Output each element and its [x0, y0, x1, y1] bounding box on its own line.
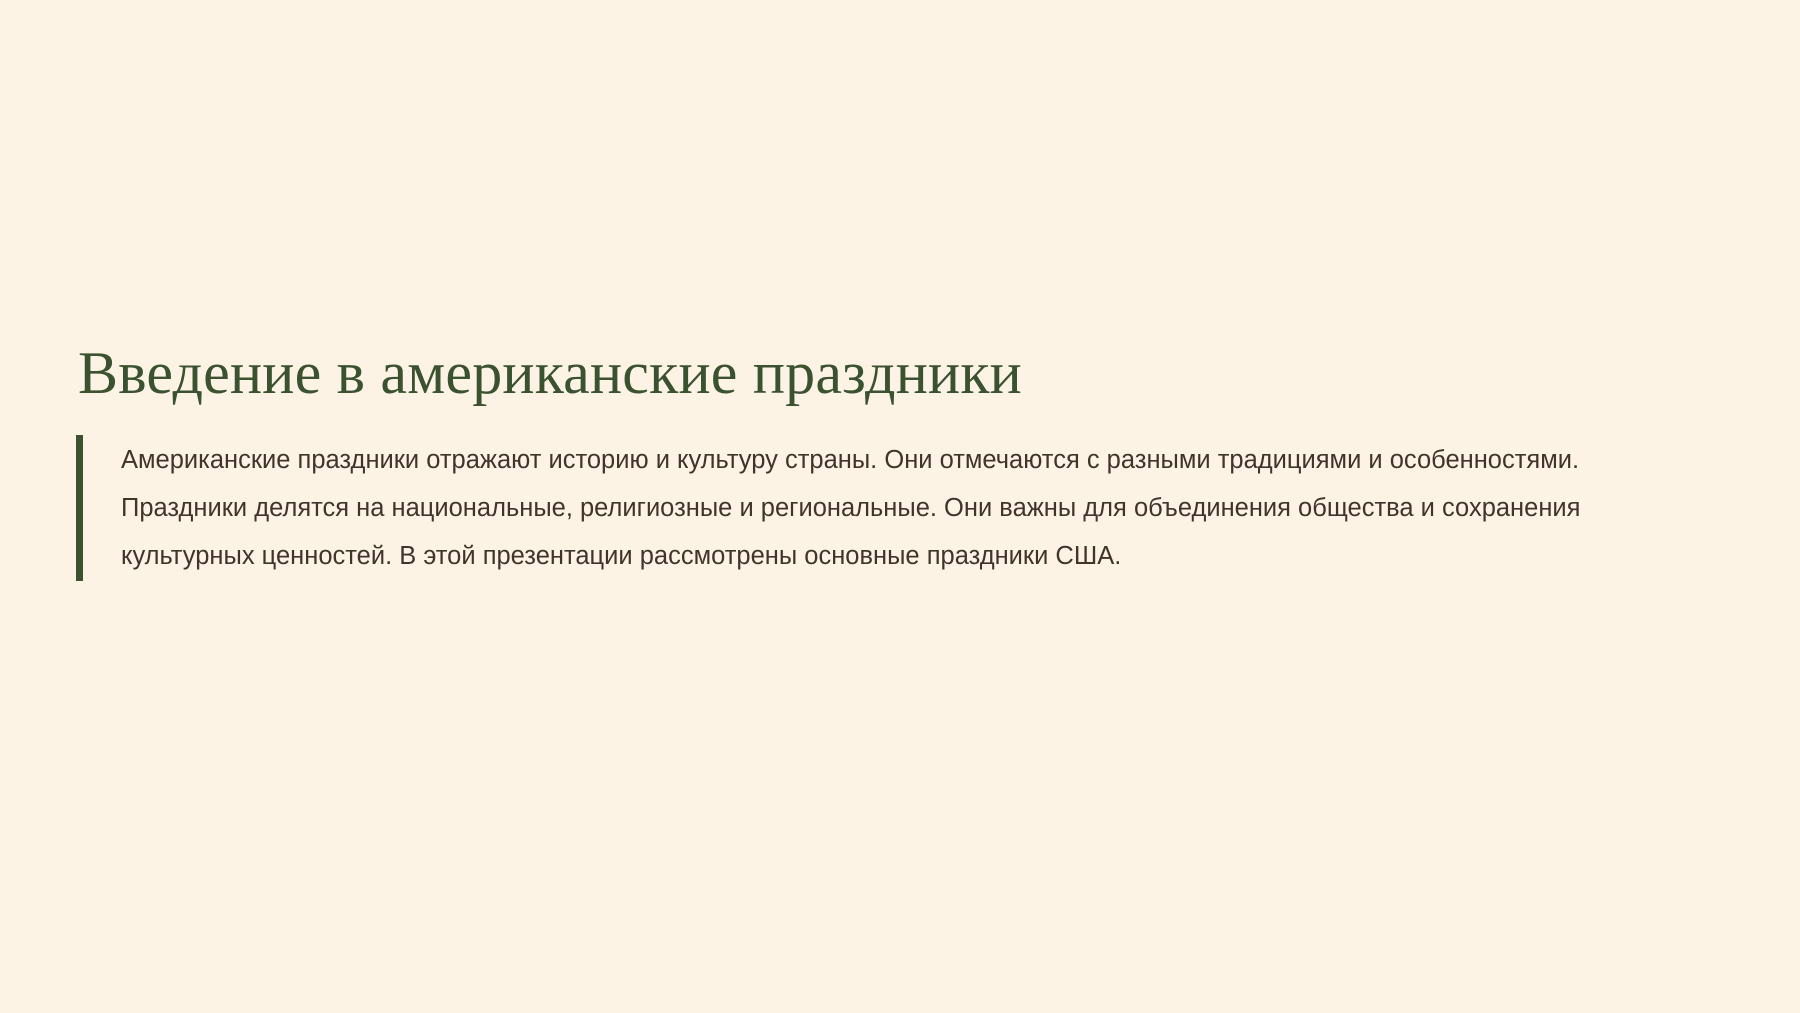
slide-body-text: Американские праздники отражают историю …	[121, 435, 1661, 581]
body-block: Американские праздники отражают историю …	[76, 435, 1728, 581]
presentation-slide: Введение в американские праздники Америк…	[0, 0, 1800, 1013]
slide-title: Введение в американские праздники	[78, 340, 1728, 407]
slide-content: Введение в американские праздники Америк…	[78, 340, 1728, 581]
accent-bar	[76, 435, 83, 581]
